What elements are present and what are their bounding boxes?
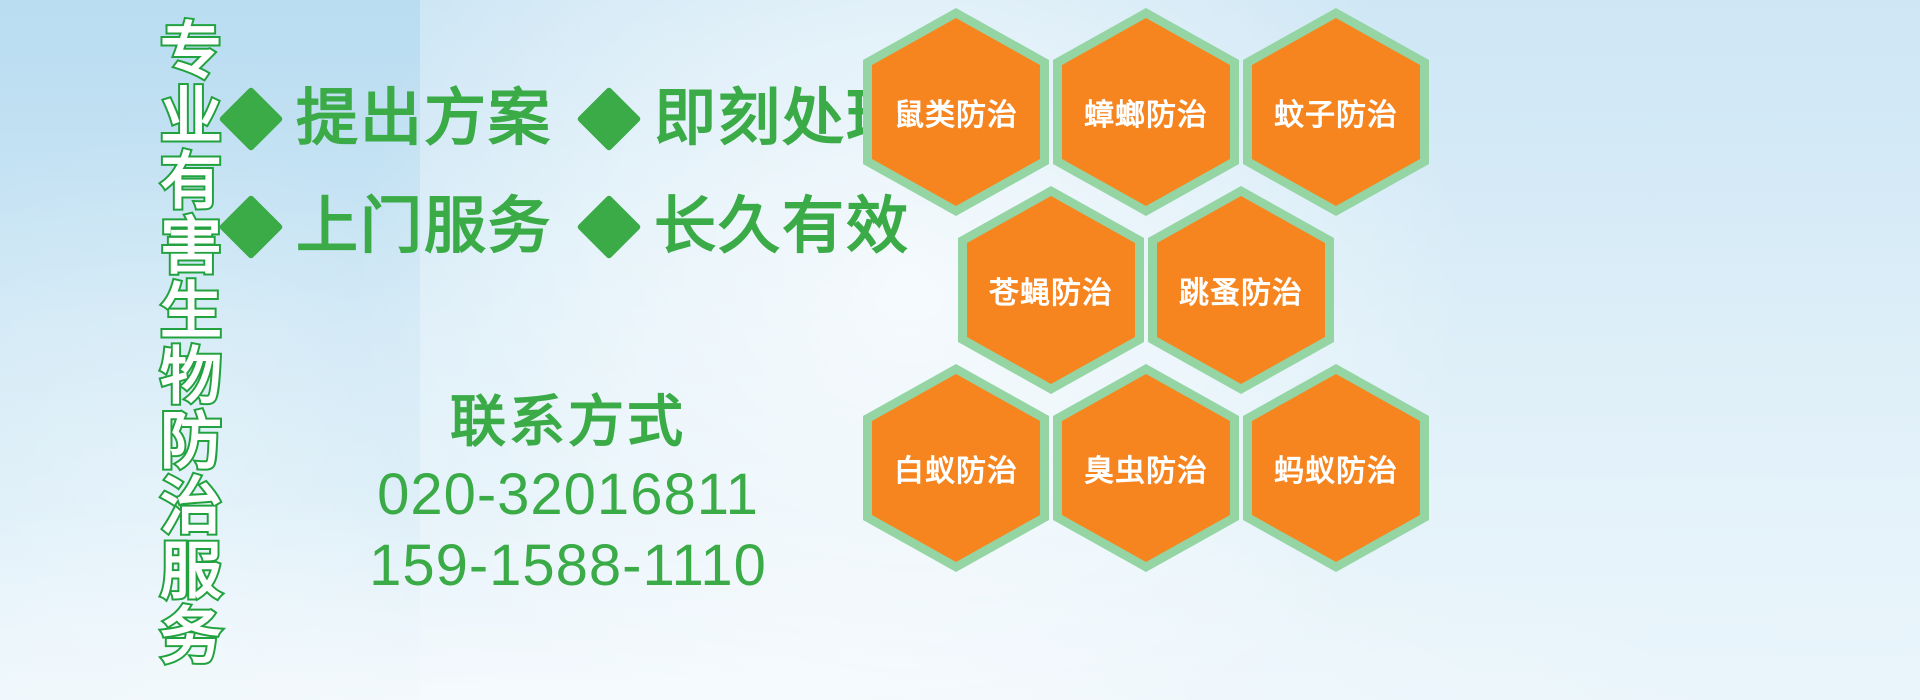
diamond-bullet-icon (218, 86, 283, 151)
hex-label: 白蚁防治 (863, 364, 1049, 572)
hex-cell-cockroach[interactable]: 蟑螂防治 (1053, 8, 1239, 216)
service-honeycomb: 鼠类防治 蟑螂防治 蚊子防治 苍蝇防治 跳蚤防治 白蚁防治 (855, 0, 1455, 580)
diamond-bullet-icon (218, 194, 283, 259)
hex-cell-mosquito[interactable]: 蚊子防治 (1243, 8, 1429, 216)
pest-control-banner: 专业有害生物防治服务 提出方案 即刻处理 上门服务 长久有效 联系方式 020-… (0, 0, 1920, 700)
phone-number-mobile[interactable]: 159-1588-1110 (318, 531, 818, 602)
hex-label: 苍蝇防治 (958, 186, 1144, 394)
hex-cell-ant[interactable]: 蚂蚁防治 (1243, 364, 1429, 572)
hex-label: 跳蚤防治 (1148, 186, 1334, 394)
hex-label: 鼠类防治 (863, 8, 1049, 216)
phone-number-landline[interactable]: 020-32016811 (318, 460, 818, 531)
feature-row-2: 上门服务 长久有效 (228, 196, 910, 258)
contact-block: 联系方式 020-32016811 159-1588-1110 (318, 392, 818, 602)
hex-label: 臭虫防治 (1053, 364, 1239, 572)
feature-label: 上门服务 (296, 196, 552, 258)
diamond-bullet-icon (576, 86, 641, 151)
feature-item-onsite-service: 上门服务 (228, 196, 552, 258)
hex-label: 蟑螂防治 (1053, 8, 1239, 216)
hex-label: 蚊子防治 (1243, 8, 1429, 216)
feature-item-propose-plan: 提出方案 (228, 88, 552, 150)
feature-label: 提出方案 (296, 88, 552, 150)
hex-cell-fly[interactable]: 苍蝇防治 (958, 186, 1144, 394)
hex-cell-rodent[interactable]: 鼠类防治 (863, 8, 1049, 216)
hex-cell-termite[interactable]: 白蚁防治 (863, 364, 1049, 572)
feature-row-1: 提出方案 即刻处理 (228, 88, 910, 150)
diamond-bullet-icon (576, 194, 641, 259)
vertical-headline: 专业有害生物防治服务 (112, 18, 216, 578)
contact-title: 联系方式 (318, 392, 818, 452)
hex-cell-bedbug[interactable]: 臭虫防治 (1053, 364, 1239, 572)
hex-label: 蚂蚁防治 (1243, 364, 1429, 572)
hex-cell-flea[interactable]: 跳蚤防治 (1148, 186, 1334, 394)
